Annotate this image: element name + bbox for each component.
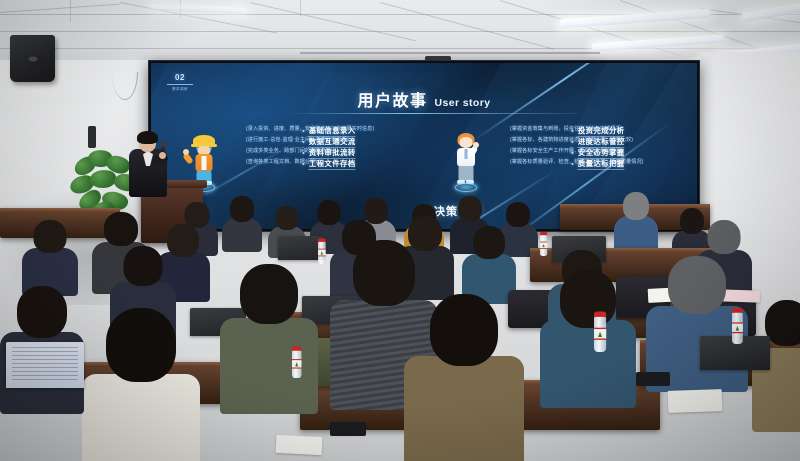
- slide-title-en: User story: [435, 97, 491, 109]
- bottle-body: [540, 235, 547, 256]
- wall-sensor: [88, 126, 96, 148]
- audience-member: [462, 226, 516, 298]
- bottle-label: [732, 322, 743, 333]
- bottle-body: [292, 351, 301, 378]
- laptop[interactable]: [6, 342, 84, 388]
- audience-member: [540, 270, 636, 400]
- ceiling-light: [150, 4, 246, 13]
- audience-member: [404, 294, 524, 454]
- presenter: [126, 133, 172, 195]
- bullet-dot-icon: [571, 163, 573, 165]
- slide-bullet: 资料审批流转 (完成多类业务、跨部门间的审批流转): [239, 147, 419, 154]
- bottle-label: [594, 328, 606, 340]
- conference-room-scene: 02 需求调研 用户故事User story 基础信息录入 (录入投资、进度、质…: [0, 0, 800, 461]
- title-underline: [291, 113, 577, 114]
- bullet-title: 工程文件存档: [309, 158, 356, 171]
- bottle-label: [540, 242, 547, 249]
- bottle-body: [318, 242, 326, 264]
- slide-bullet: 安全态势掌握 (掌握各标安全生产工作开展、项目施工风险情况): [503, 147, 693, 154]
- bottle-body: [594, 317, 606, 352]
- audience-member: [614, 192, 658, 248]
- papers[interactable]: [668, 389, 723, 413]
- water-bottle[interactable]: [594, 312, 606, 353]
- ceiling-rail: [300, 52, 600, 54]
- slide-bullet: 工程文件存档 (查询各类工程文档、数据台账): [239, 158, 419, 165]
- badge-rule: [167, 84, 193, 85]
- bullet-title: 质量达标把握: [578, 158, 625, 171]
- ceiling-light: [742, 3, 800, 23]
- slide-bullet: 投资完成分析 (掌握资金筹集与到账，投资任务下达与完成情况): [503, 125, 693, 132]
- audience-member: [22, 220, 78, 290]
- bullet-dot-icon: [302, 141, 304, 143]
- slide-bullet: 基础信息录入 (录入投资、进度、质量、安全等方面工作开展实时信息): [239, 125, 419, 132]
- smartphone[interactable]: [330, 422, 366, 436]
- water-bottle[interactable]: [540, 232, 547, 256]
- bullet-dot-icon: [571, 152, 573, 154]
- slide-column-right: 投资完成分析 (掌握资金筹集与到账，投资任务下达与完成情况) 进度达标管控 (掌…: [503, 123, 693, 169]
- audience-member: [222, 196, 262, 248]
- water-bottle[interactable]: [292, 347, 301, 379]
- smartphone[interactable]: [636, 372, 670, 386]
- presenter-hand: [159, 152, 166, 159]
- slide-title: 用户故事User story: [151, 87, 697, 111]
- bullet-dot-icon: [571, 130, 573, 132]
- manager-mascot-icon: [443, 129, 489, 193]
- bullet-dot-icon: [302, 163, 304, 165]
- water-bottle[interactable]: [318, 239, 326, 265]
- laptop-screen: [6, 342, 84, 388]
- bottle-label: [292, 359, 301, 368]
- bullet-dot-icon: [302, 130, 304, 132]
- bullet-dot-icon: [302, 152, 304, 154]
- bullet-dot-icon: [571, 141, 573, 143]
- slide-bullet: 进度达标管控 (掌握各标、各建筑物进度状态、完成比例、进度比较): [503, 136, 693, 143]
- slide-bullet: 质量达标把握 (掌握各标质量验评、检查、检验工作开展、项目质量情况): [503, 158, 693, 165]
- ceiling-light: [560, 9, 710, 28]
- papers[interactable]: [276, 435, 323, 455]
- wall-speaker: [10, 35, 55, 82]
- audience-area: [0, 190, 800, 461]
- water-bottle[interactable]: [732, 308, 743, 344]
- slide-column-left: 基础信息录入 (录入投资、进度、质量、安全等方面工作开展实时信息) 数据互通交流…: [239, 123, 419, 169]
- bottle-body: [732, 313, 743, 344]
- audience-member: [82, 308, 200, 460]
- section-number: 02: [167, 73, 193, 82]
- presenter-hair: [137, 131, 158, 144]
- slide-bullet: 数据互通交流 (进行施工·总包·监理·业主间，各类业务沟通): [239, 136, 419, 143]
- slide-title-cn: 用户故事: [358, 93, 428, 110]
- audience-member: [220, 264, 318, 404]
- bottle-label: [318, 249, 326, 257]
